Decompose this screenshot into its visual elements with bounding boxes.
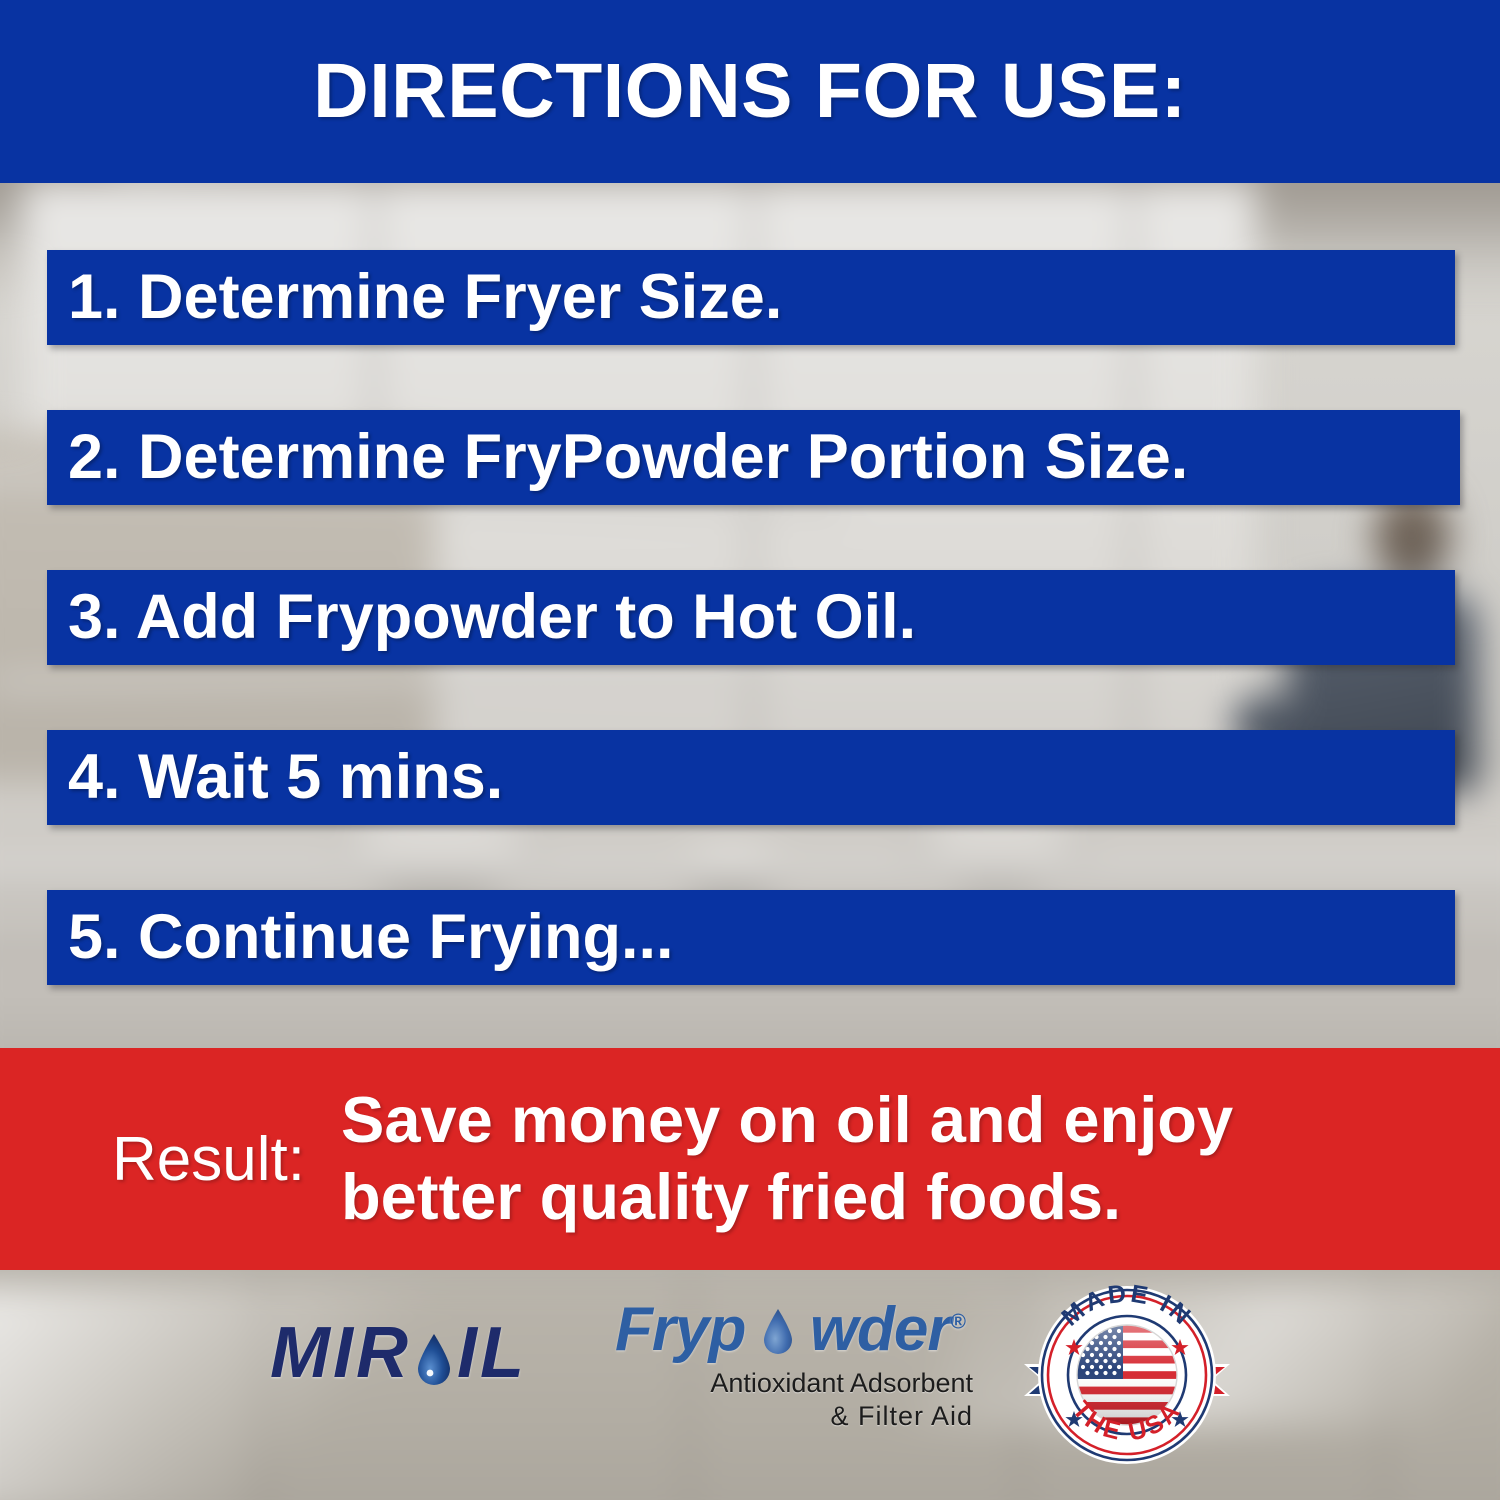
step-item-4: 4. Wait 5 mins. bbox=[47, 730, 1455, 825]
footer-logo-row: MIR IL Fryp bbox=[0, 1270, 1500, 1500]
frypowder-tagline-line-1: Antioxidant Adsorbent bbox=[615, 1367, 973, 1400]
frypowder-logo: Fryp wder® bbox=[615, 1294, 975, 1433]
frypowder-tagline-line-2: & Filter Aid bbox=[615, 1400, 973, 1433]
steps-list: 1. Determine Fryer Size. 2. Determine Fr… bbox=[0, 183, 1500, 1048]
result-message: Save money on oil and enjoy better quali… bbox=[341, 1082, 1233, 1235]
result-message-line-1: Save money on oil and enjoy bbox=[341, 1082, 1233, 1159]
frypowder-tagline: Antioxidant Adsorbent & Filter Aid bbox=[615, 1367, 975, 1433]
step-label-3: 3. Add Frypowder to Hot Oil. bbox=[47, 586, 916, 649]
oil-droplet-icon bbox=[763, 1298, 793, 1344]
step-item-1: 1. Determine Fryer Size. bbox=[47, 250, 1455, 345]
frypowder-wordmark: Fryp wder® bbox=[615, 1294, 975, 1365]
result-label: Result: bbox=[112, 1124, 305, 1195]
result-banner: Result: Save money on oil and enjoy bett… bbox=[0, 1048, 1500, 1270]
miroil-text-part2: IL bbox=[457, 1312, 527, 1394]
step-item-2: 2. Determine FryPowder Portion Size. bbox=[47, 410, 1460, 505]
frypowder-text-part2: wder bbox=[810, 1295, 951, 1364]
miroil-text-part1: MIR bbox=[270, 1312, 411, 1394]
miroil-logo: MIR IL bbox=[270, 1312, 527, 1394]
frypowder-text-part1: Fryp bbox=[615, 1295, 745, 1364]
step-label-5: 5. Continue Frying... bbox=[47, 906, 674, 969]
step-label-4: 4. Wait 5 mins. bbox=[47, 746, 503, 809]
registered-trademark-symbol: ® bbox=[951, 1310, 965, 1333]
step-item-3: 3. Add Frypowder to Hot Oil. bbox=[47, 570, 1455, 665]
directions-for-use-infographic: DIRECTIONS FOR USE: 1. Determine Fryer S… bbox=[0, 0, 1500, 1500]
step-item-5: 5. Continue Frying... bbox=[47, 890, 1455, 985]
result-message-line-2: better quality fried foods. bbox=[341, 1159, 1233, 1236]
step-label-1: 1. Determine Fryer Size. bbox=[47, 266, 782, 329]
made-in-usa-badge: MADE IN THE USA bbox=[1012, 1272, 1242, 1482]
page-title: DIRECTIONS FOR USE: bbox=[313, 47, 1187, 136]
header-banner: DIRECTIONS FOR USE: bbox=[0, 0, 1500, 183]
oil-droplet-icon bbox=[417, 1333, 451, 1385]
step-label-2: 2. Determine FryPowder Portion Size. bbox=[47, 426, 1188, 489]
